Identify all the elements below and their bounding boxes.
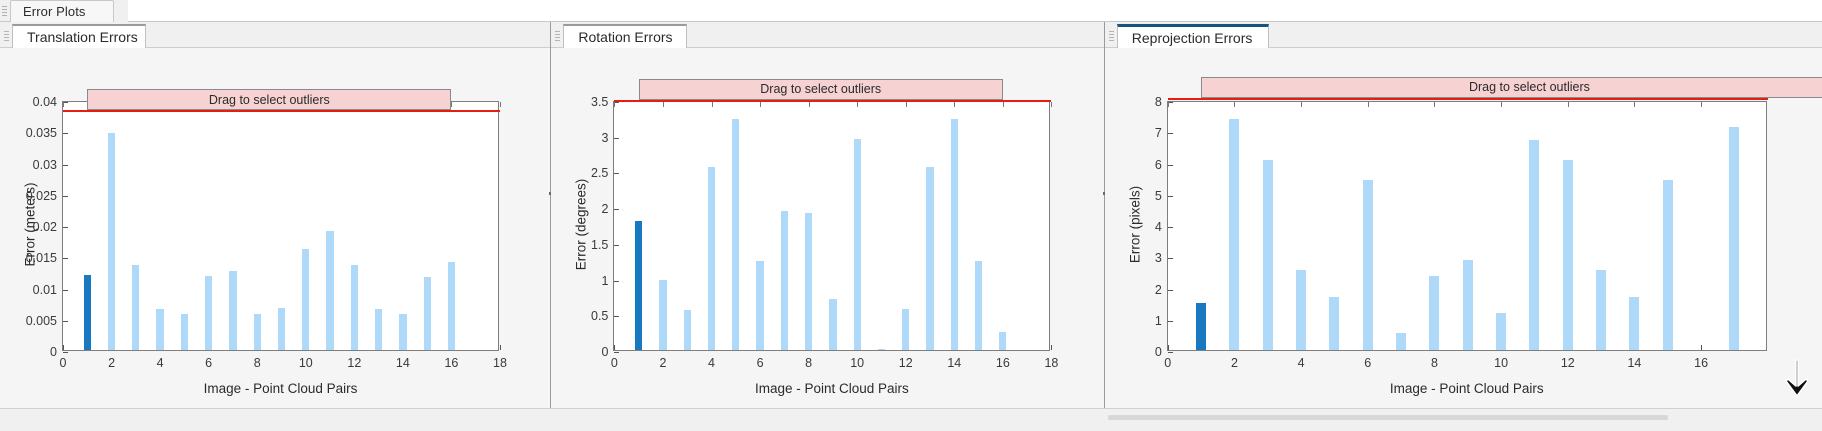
chart-bar[interactable] [326, 231, 333, 350]
x-tick-mark [614, 345, 615, 350]
x-tick-label: 4 [708, 356, 715, 370]
y-tick-mark [614, 173, 619, 174]
y-tick-label: 0 [601, 345, 608, 359]
x-tick-label: 0 [60, 356, 67, 370]
chart-bar[interactable] [254, 314, 261, 350]
chart-bar[interactable] [424, 277, 431, 350]
chart-axes[interactable]: 0123456780246810121416Drag to select out… [1167, 101, 1767, 351]
y-tick-label: 3 [601, 131, 608, 145]
x-tick-mark [1051, 345, 1052, 350]
chart-bar[interactable] [1329, 297, 1339, 350]
y-tick-label: 2 [1155, 283, 1162, 297]
panel-reprojection-errors: Reprojection Errors012345678024681012141… [1105, 22, 1822, 408]
inner-tab-row-0: Translation Errors [0, 22, 550, 48]
y-tick-mark [1168, 227, 1173, 228]
y-tick-mark [63, 321, 68, 322]
outlier-drag-band[interactable]: Drag to select outliers [1201, 77, 1822, 98]
y-tick-mark [63, 133, 68, 134]
x-tick-mark [1168, 345, 1169, 350]
y-tick-label: 3.5 [591, 95, 608, 109]
x-tick-mark-top [954, 102, 955, 107]
tab-label: Translation Errors [27, 29, 138, 45]
chart-bar[interactable] [132, 265, 139, 350]
drag-grip-icon[interactable] [2, 4, 7, 17]
chart-bar[interactable] [781, 211, 788, 350]
x-tick-mark-top [857, 102, 858, 107]
y-tick-label: 1 [601, 274, 608, 288]
x-tick-label: 0 [1164, 356, 1171, 370]
outlier-drag-band[interactable]: Drag to select outliers [87, 89, 451, 110]
x-tick-mark [1701, 345, 1702, 350]
tab-reprojection-errors[interactable]: Reprojection Errors [1117, 24, 1269, 48]
y-tick-label: 6 [1155, 158, 1162, 172]
chart-bar[interactable] [278, 308, 285, 351]
y-tick-mark [63, 227, 68, 228]
x-tick-label: 6 [205, 356, 212, 370]
x-axis-label: Image - Point Cloud Pairs [62, 381, 499, 396]
y-tick-mark [1168, 321, 1173, 322]
chart-bar[interactable] [1463, 260, 1473, 350]
y-tick-mark [614, 138, 619, 139]
y-tick-label: 7 [1155, 126, 1162, 140]
chart-axes[interactable]: 00.0050.010.0150.020.0250.030.0350.04024… [62, 101, 499, 351]
x-tick-label: 8 [805, 356, 812, 370]
y-tick-mark [614, 209, 619, 210]
x-tick-mark-top [1568, 102, 1569, 107]
y-tick-label: 0 [1155, 345, 1162, 359]
x-tick-mark-top [1003, 102, 1004, 107]
x-tick-label: 16 [444, 356, 458, 370]
chart-axes[interactable]: 00.511.522.533.5024681012141618Drag to s… [613, 101, 1050, 351]
y-axis-label: Error (pixels) [1127, 100, 1142, 350]
inner-tab-row-2: Reprojection Errors [1105, 22, 1822, 48]
y-tick-label: 5 [1155, 189, 1162, 203]
panel-drag-grip-icon[interactable] [1109, 29, 1114, 42]
y-tick-mark [1168, 165, 1173, 166]
y-tick-mark [1168, 258, 1173, 259]
y-tick-label: 8 [1155, 95, 1162, 109]
x-tick-mark-top [760, 102, 761, 107]
chart-bar[interactable] [108, 133, 115, 350]
outlier-band-label: Drag to select outliers [1469, 80, 1590, 94]
x-tick-mark-top [1501, 102, 1502, 107]
x-tick-mark-top [663, 102, 664, 107]
x-tick-mark [63, 345, 64, 350]
y-tick-label: 1.5 [591, 238, 608, 252]
chart-bar[interactable] [375, 309, 382, 350]
x-tick-label: 12 [347, 356, 361, 370]
x-tick-mark-top [1368, 102, 1369, 107]
y-tick-mark [614, 352, 619, 353]
y-tick-mark [1168, 290, 1173, 291]
chart-bar[interactable] [181, 314, 188, 350]
x-axis-label: Image - Point Cloud Pairs [613, 381, 1050, 396]
tab-label: Reprojection Errors [1132, 30, 1253, 46]
x-tick-mark-top [1434, 102, 1435, 107]
chart-bar[interactable] [84, 275, 91, 350]
chart-bar[interactable] [229, 271, 236, 350]
outer-tab-strip: Error Plots [0, 0, 1822, 22]
y-tick-mark [1168, 352, 1173, 353]
chart-bar[interactable] [205, 276, 212, 350]
error-plots-window: Error Plots Translation Errors00.0050.01… [0, 0, 1822, 430]
y-tick-mark [63, 352, 68, 353]
outlier-threshold-line[interactable] [63, 110, 500, 112]
chart-bar[interactable] [756, 261, 763, 350]
outlier-band-label: Drag to select outliers [209, 93, 330, 107]
plot-area-0: 00.0050.010.0150.020.0250.030.0350.04024… [0, 48, 550, 408]
x-tick-label: 10 [299, 356, 313, 370]
y-tick-mark [63, 196, 68, 197]
x-tick-label: 4 [157, 356, 164, 370]
x-tick-mark-top [1634, 102, 1635, 107]
outlier-drag-band[interactable]: Drag to select outliers [639, 79, 1003, 100]
chart-bar[interactable] [1663, 180, 1673, 350]
horizontal-scrollbar[interactable] [1108, 415, 1668, 420]
y-axis-label: Error (degrees) [574, 100, 589, 350]
y-tick-mark [614, 245, 619, 246]
chart-bar[interactable] [829, 299, 836, 350]
outlier-threshold-line[interactable] [614, 100, 1051, 102]
chart-bar[interactable] [1563, 160, 1573, 350]
chart-bar[interactable] [448, 262, 455, 350]
tab-label: Rotation Errors [578, 29, 672, 45]
x-tick-label: 8 [254, 356, 261, 370]
x-tick-label: 10 [1494, 356, 1508, 370]
y-tick-mark [1168, 133, 1173, 134]
panel-drag-grip-icon[interactable] [555, 29, 560, 42]
x-tick-mark-top [1301, 102, 1302, 107]
inner-tab-row-1: Rotation Errors [551, 22, 1103, 48]
x-tick-label: 14 [396, 356, 410, 370]
chart-bar[interactable] [708, 167, 715, 350]
chart-bar[interactable] [156, 309, 163, 350]
chart-bar[interactable] [659, 280, 666, 350]
x-tick-label: 16 [1694, 356, 1708, 370]
tab-error-plots-label: Error Plots [23, 4, 86, 19]
tab-translation-errors[interactable]: Translation Errors [12, 24, 146, 48]
chart-bar[interactable] [1229, 119, 1239, 350]
x-tick-label: 6 [1364, 356, 1371, 370]
chart-bar[interactable] [1729, 127, 1739, 350]
tab-rotation-errors[interactable]: Rotation Errors [563, 24, 687, 48]
x-tick-mark-top [1701, 102, 1702, 107]
chart-bar[interactable] [1396, 333, 1406, 350]
x-tick-label: 6 [757, 356, 764, 370]
chart-bar[interactable] [732, 119, 739, 350]
plot-panels-container: Translation Errors00.0050.010.0150.020.0… [0, 22, 1822, 408]
chart-bar[interactable] [1496, 313, 1506, 350]
x-tick-mark-top [451, 102, 452, 107]
outlier-band-label: Drag to select outliers [760, 82, 881, 96]
y-axis-label: Error (meters) [23, 100, 38, 350]
chart-bar[interactable] [302, 249, 309, 350]
x-tick-label: 14 [1627, 356, 1641, 370]
panel-rotation-errors: Rotation Errors00.511.522.533.5024681012… [551, 22, 1103, 408]
chart-bar[interactable] [999, 332, 1006, 350]
y-tick-mark [63, 165, 68, 166]
chart-bar[interactable] [975, 261, 982, 350]
x-tick-label: 18 [1044, 356, 1058, 370]
outlier-threshold-line[interactable] [1168, 98, 1768, 100]
x-tick-label: 0 [611, 356, 618, 370]
chart-bar[interactable] [951, 119, 958, 350]
x-tick-mark-top [1051, 102, 1052, 107]
y-tick-label: 2.5 [591, 166, 608, 180]
x-tick-label: 14 [947, 356, 961, 370]
y-tick-mark [63, 290, 68, 291]
chart-bar[interactable] [878, 349, 885, 350]
chart-bar[interactable] [1529, 140, 1539, 350]
x-tick-label: 2 [108, 356, 115, 370]
chart-bar[interactable] [926, 167, 933, 350]
x-tick-label: 10 [850, 356, 864, 370]
x-tick-mark-top [614, 102, 615, 107]
x-tick-label: 8 [1431, 356, 1438, 370]
chart-bar[interactable] [805, 213, 812, 350]
panel-translation-errors: Translation Errors00.0050.010.0150.020.0… [0, 22, 550, 408]
y-tick-label: 2 [601, 202, 608, 216]
x-tick-label: 16 [996, 356, 1010, 370]
chart-bar[interactable] [635, 221, 642, 350]
x-tick-label: 12 [899, 356, 913, 370]
y-tick-label: 4 [1155, 220, 1162, 234]
y-tick-label: 0.5 [591, 309, 608, 323]
y-tick-mark [63, 258, 68, 259]
tab-error-plots[interactable]: Error Plots [10, 0, 114, 22]
chart-bar[interactable] [902, 309, 909, 350]
x-axis-label: Image - Point Cloud Pairs [1167, 381, 1767, 396]
chart-bar[interactable] [1363, 180, 1373, 350]
x-tick-label: 2 [659, 356, 666, 370]
x-tick-mark-top [500, 102, 501, 107]
x-tick-mark-top [906, 102, 907, 107]
chart-bar[interactable] [399, 314, 406, 350]
chart-bar[interactable] [1596, 270, 1606, 350]
chart-bar[interactable] [351, 265, 358, 350]
panel-drag-grip-icon[interactable] [4, 29, 9, 42]
y-tick-mark [614, 316, 619, 317]
chart-bar[interactable] [1263, 160, 1273, 350]
chart-bar[interactable] [1629, 297, 1639, 350]
chart-bar[interactable] [684, 310, 691, 350]
y-tick-label: 3 [1155, 251, 1162, 265]
outer-tab-strip-filler [128, 0, 1822, 22]
y-tick-mark [614, 281, 619, 282]
x-tick-mark-top [1234, 102, 1235, 107]
y-tick-label: 0 [50, 345, 57, 359]
x-tick-mark-top [809, 102, 810, 107]
x-tick-mark-top [63, 102, 64, 107]
chart-bar[interactable] [854, 139, 861, 350]
y-tick-mark [1168, 196, 1173, 197]
x-tick-label: 2 [1231, 356, 1238, 370]
x-tick-mark-top [1168, 102, 1169, 107]
x-tick-label: 18 [493, 356, 507, 370]
plot-area-1: 00.511.522.533.5024681012141618Drag to s… [551, 48, 1103, 408]
chart-bar[interactable] [1296, 270, 1306, 350]
plot-area-2: 0123456780246810121416Drag to select out… [1105, 48, 1822, 408]
chart-bar[interactable] [1429, 276, 1439, 350]
y-tick-label: 1 [1155, 314, 1162, 328]
x-tick-label: 4 [1298, 356, 1305, 370]
x-tick-mark [500, 345, 501, 350]
x-tick-mark-top [712, 102, 713, 107]
x-tick-label: 12 [1561, 356, 1575, 370]
chart-bar[interactable] [1196, 303, 1206, 350]
resize-cursor-icon [1768, 352, 1812, 410]
